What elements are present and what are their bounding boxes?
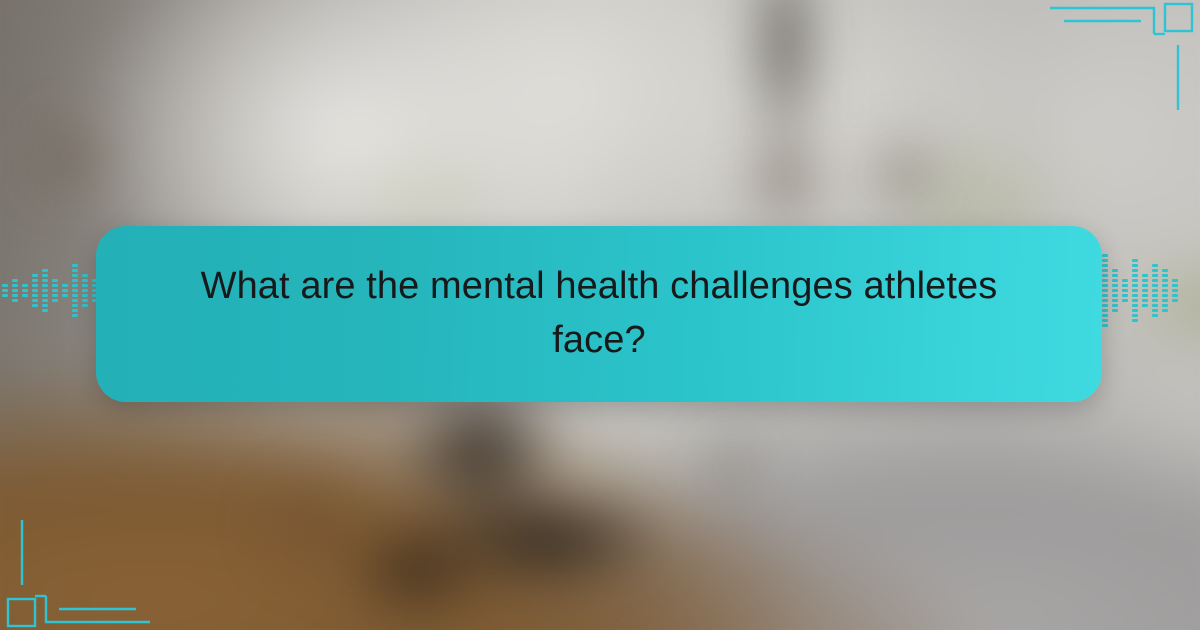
question-text: What are the mental health challenges at… xyxy=(169,260,1029,368)
question-card: What are the mental health challenges at… xyxy=(96,226,1102,402)
share-card-canvas: What are the mental health challenges at… xyxy=(0,0,1200,630)
